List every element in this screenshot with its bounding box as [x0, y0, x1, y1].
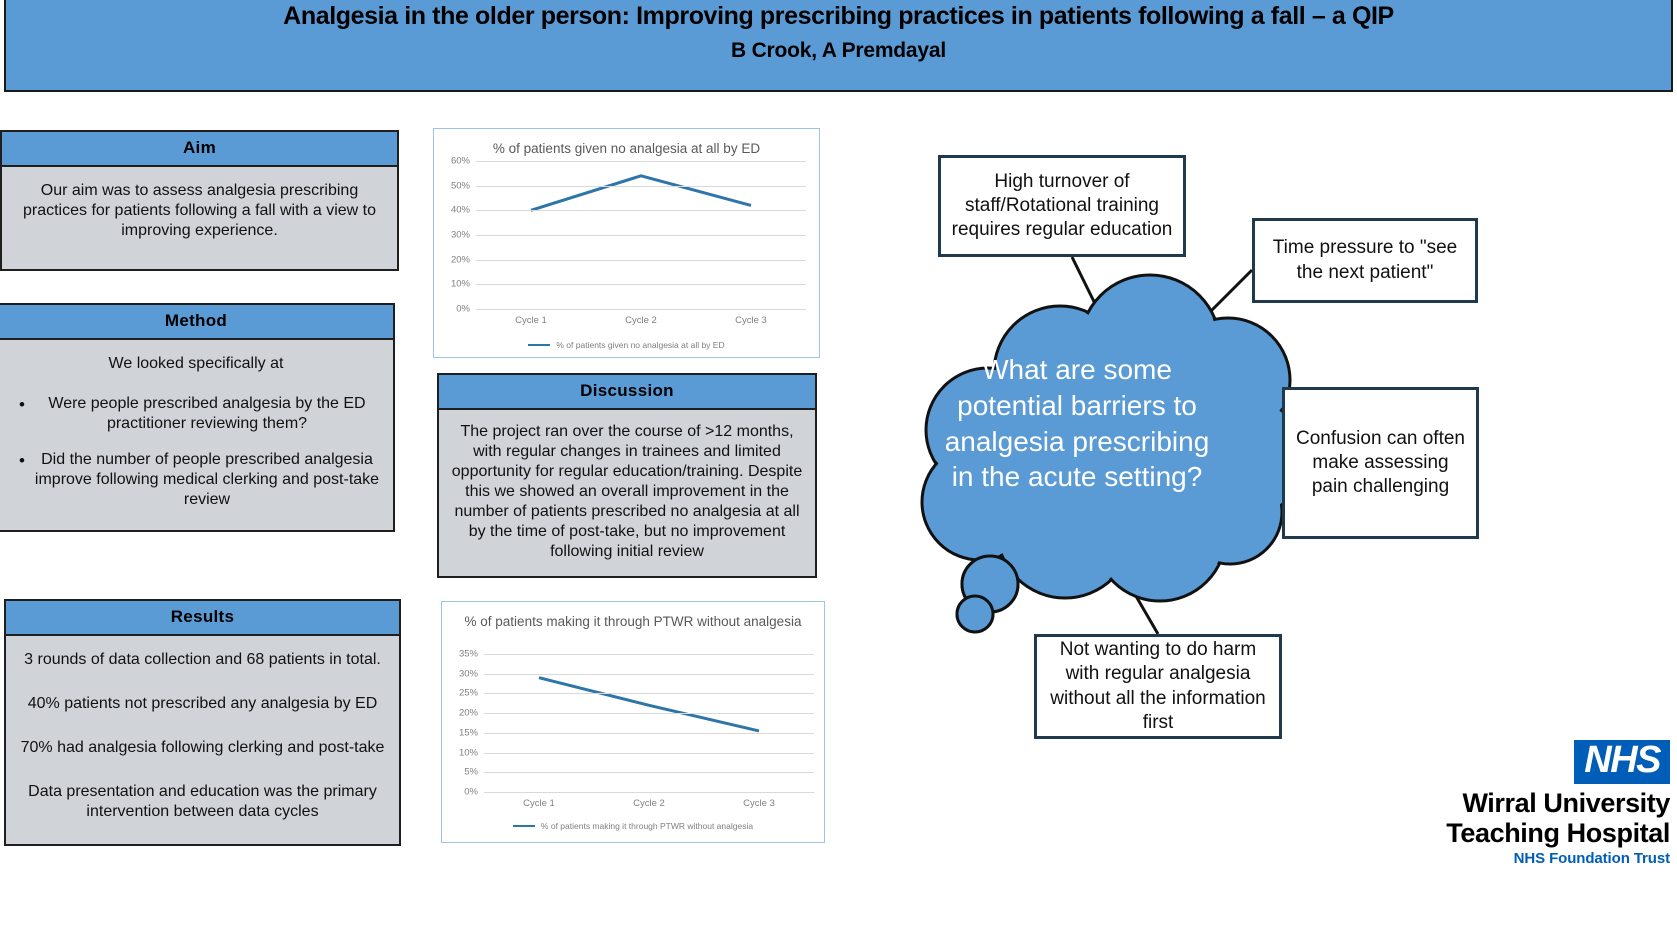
chart-no-analgesia-by-ed: % of patients given no analgesia at all …: [433, 128, 820, 358]
gridline: [476, 210, 806, 211]
callout-avoiding-harm: Not wanting to do harm with regular anal…: [1034, 634, 1282, 739]
chart1-legend-swatch-icon: [528, 344, 550, 347]
gridline: [484, 693, 814, 694]
gridline: [476, 260, 806, 261]
method-card-header: Method: [0, 305, 393, 340]
nhs-wordmark: NHS: [1574, 740, 1670, 784]
chart2-legend-swatch-icon: [513, 825, 535, 828]
gridline: [484, 772, 814, 773]
discussion-card-body: The project ran over the course of >12 m…: [439, 410, 815, 576]
gridline: [476, 186, 806, 187]
aim-card: Aim Our aim was to assess analgesia pres…: [0, 130, 399, 271]
gridline: [484, 674, 814, 675]
gridline: [484, 733, 814, 734]
y-axis-tick-label: 20%: [451, 254, 470, 265]
x-axis-tick-label: Cycle 3: [735, 315, 767, 326]
chart2-legend-label: % of patients making it through PTWR wit…: [541, 821, 753, 831]
callout-turnover-text: High turnover of staff/Rotational traini…: [951, 170, 1173, 243]
bullet-icon: •: [11, 394, 33, 415]
chart1-legend-label: % of patients given no analgesia at all …: [556, 340, 724, 350]
y-axis-tick-label: 0%: [456, 304, 470, 315]
aim-card-body: Our aim was to assess analgesia prescrib…: [2, 167, 397, 269]
discussion-card-header: Discussion: [439, 375, 815, 410]
gridline: [484, 792, 814, 793]
callout-harm-text: Not wanting to do harm with regular anal…: [1047, 638, 1269, 735]
x-axis-tick-label: Cycle 1: [523, 798, 555, 809]
barriers-mindmap: What are some potential barriers to anal…: [860, 140, 1520, 760]
chart1-plot-area: 0%10%20%30%40%50%60%: [476, 161, 806, 309]
poster-title-banner: Analgesia in the older person: Improving…: [4, 0, 1673, 92]
y-axis-tick-label: 40%: [451, 205, 470, 216]
thought-cloud-icon: [922, 275, 1305, 632]
results-card-header: Results: [6, 601, 399, 636]
method-bullet-item: • Were people prescribed analgesia by th…: [11, 394, 381, 434]
method-bullet-item: • Did the number of people prescribed an…: [11, 450, 381, 510]
gridline: [476, 161, 806, 162]
chart2-legend: % of patients making it through PTWR wit…: [442, 821, 824, 831]
y-axis-tick-label: 20%: [459, 708, 478, 719]
gridline: [484, 713, 814, 714]
results-line: 40% patients not prescribed any analgesi…: [14, 694, 391, 714]
trust-name-line1: Wirral University: [1370, 788, 1670, 818]
y-axis-tick-label: 30%: [459, 668, 478, 679]
chart-ptwr-without-analgesia: % of patients making it through PTWR wit…: [441, 601, 825, 843]
y-axis-tick-label: 10%: [459, 747, 478, 758]
y-axis-tick-label: 35%: [459, 649, 478, 660]
chart1-title: % of patients given no analgesia at all …: [434, 129, 819, 158]
aim-card-header: Aim: [2, 132, 397, 167]
discussion-card: Discussion The project ran over the cour…: [437, 373, 817, 578]
discussion-text: The project ran over the course of >12 m…: [449, 422, 805, 562]
chart2-plot-area: 0%5%10%15%20%25%30%35%: [484, 654, 814, 792]
page-title: Analgesia in the older person: Improving…: [283, 2, 1394, 31]
gridline: [476, 235, 806, 236]
results-card: Results 3 rounds of data collection and …: [4, 599, 401, 846]
y-axis-tick-label: 5%: [464, 767, 478, 778]
results-line: Data presentation and education was the …: [14, 782, 391, 822]
method-card: Method We looked specifically at • Were …: [0, 303, 395, 532]
callout-confusion: Confusion can often make assessing pain …: [1282, 387, 1479, 539]
y-axis-tick-label: 60%: [451, 156, 470, 167]
nhs-logo: NHS Wirral University Teaching Hospital …: [1370, 740, 1670, 867]
x-axis-tick-label: Cycle 3: [743, 798, 775, 809]
y-axis-tick-label: 10%: [451, 279, 470, 290]
method-bullet-text: Were people prescribed analgesia by the …: [33, 394, 381, 434]
y-axis-tick-label: 0%: [464, 787, 478, 798]
x-axis-tick-label: Cycle 1: [515, 315, 547, 326]
method-bullet-text: Did the number of people prescribed anal…: [33, 450, 381, 510]
callout-time-pressure: Time pressure to "see the next patient": [1252, 218, 1478, 303]
gridline: [484, 753, 814, 754]
chart1-legend: % of patients given no analgesia at all …: [434, 340, 819, 350]
method-card-body: We looked specifically at • Were people …: [0, 340, 393, 530]
results-card-body: 3 rounds of data collection and 68 patie…: [6, 636, 399, 844]
y-axis-tick-label: 25%: [459, 688, 478, 699]
gridline: [476, 284, 806, 285]
x-axis-tick-label: Cycle 2: [625, 315, 657, 326]
callout-staff-turnover: High turnover of staff/Rotational traini…: [938, 155, 1186, 257]
y-axis-tick-label: 30%: [451, 230, 470, 241]
bullet-icon: •: [11, 450, 33, 471]
aim-text: Our aim was to assess analgesia prescrib…: [16, 181, 383, 241]
y-axis-tick-label: 15%: [459, 727, 478, 738]
chart2-title: % of patients making it through PTWR wit…: [442, 602, 824, 631]
results-line: 3 rounds of data collection and 68 patie…: [14, 650, 391, 670]
trust-name-line2: Teaching Hospital: [1370, 818, 1670, 848]
y-axis-tick-label: 50%: [451, 180, 470, 191]
x-axis-tick-label: Cycle 2: [633, 798, 665, 809]
foundation-trust-label: NHS Foundation Trust: [1370, 850, 1670, 867]
results-line: 70% had analgesia following clerking and…: [14, 738, 391, 758]
gridline: [484, 654, 814, 655]
callout-confusion-text: Confusion can often make assessing pain …: [1295, 427, 1466, 500]
gridline: [476, 309, 806, 310]
poster-authors: B Crook, A Premdayal: [731, 39, 946, 63]
callout-time-text: Time pressure to "see the next patient": [1265, 236, 1465, 285]
trust-name: Wirral University Teaching Hospital: [1370, 788, 1670, 848]
method-intro: We looked specifically at: [11, 354, 381, 374]
